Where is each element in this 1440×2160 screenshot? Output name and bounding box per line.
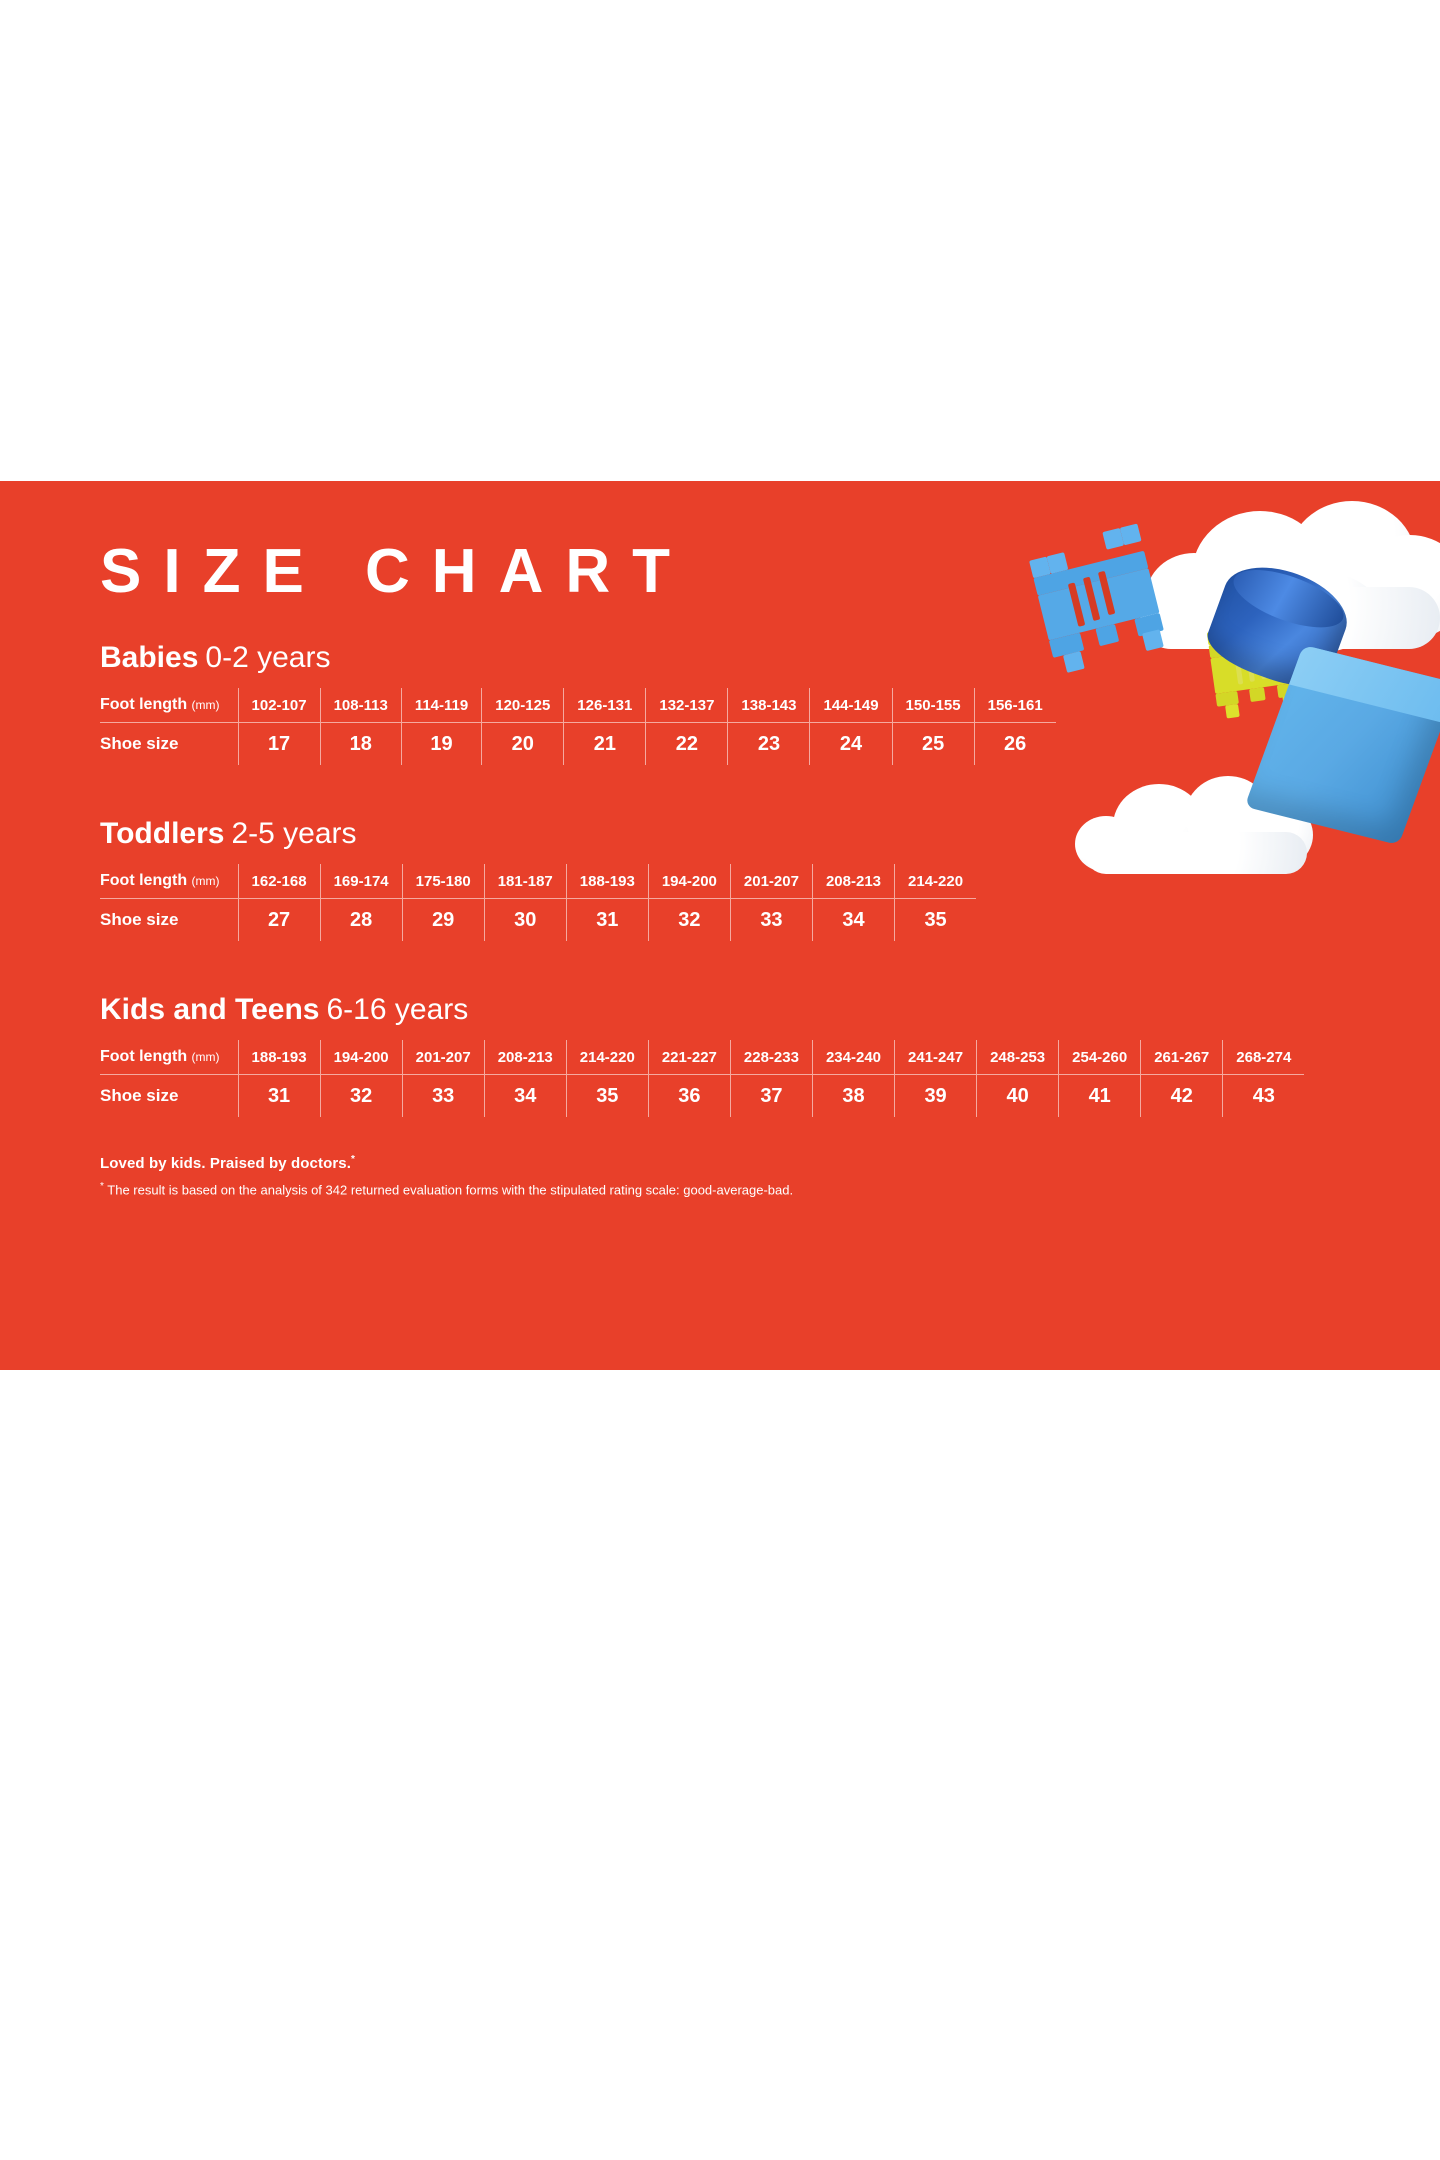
cell-foot-length: 108-113	[320, 688, 401, 723]
cell-shoe-size: 30	[484, 899, 566, 942]
cell-foot-length: 261-267	[1141, 1040, 1223, 1075]
row-label-shoe-size: Shoe size	[100, 723, 238, 766]
page-title: SIZE CHART	[100, 481, 1400, 603]
cell-foot-length: 268-274	[1223, 1040, 1305, 1075]
cell-foot-length: 214-220	[566, 1040, 648, 1075]
cell-shoe-size: 43	[1223, 1075, 1305, 1118]
cell-foot-length: 234-240	[812, 1040, 894, 1075]
row-label-shoe-size: Shoe size	[100, 1075, 238, 1118]
cell-foot-length: 120-125	[482, 688, 564, 723]
cell-foot-length: 248-253	[977, 1040, 1059, 1075]
cell-shoe-size: 31	[238, 1075, 320, 1118]
cell-shoe-size: 22	[646, 723, 728, 766]
cell-shoe-size: 23	[728, 723, 810, 766]
cell-foot-length: 138-143	[728, 688, 810, 723]
cell-shoe-size: 33	[402, 1075, 484, 1118]
cell-shoe-size: 29	[402, 899, 484, 942]
size-table-babies: Foot length (mm) 102-107 108-113 114-119…	[100, 688, 1056, 765]
footer-tagline-text: Loved by kids. Praised by doctors.	[100, 1155, 351, 1172]
size-table-toddlers: Foot length (mm) 162-168 169-174 175-180…	[100, 864, 976, 941]
cell-foot-length: 208-213	[484, 1040, 566, 1075]
section-age-range: 2-5 years	[231, 817, 356, 850]
cell-shoe-size: 18	[320, 723, 401, 766]
row-label-foot-length: Foot length (mm)	[100, 864, 238, 899]
cell-shoe-size: 38	[812, 1075, 894, 1118]
cell-shoe-size: 21	[564, 723, 646, 766]
section-age-range: 6-16 years	[327, 993, 469, 1026]
cell-shoe-size: 42	[1141, 1075, 1223, 1118]
poster-content: SIZE CHART Babies0-2 years Foot length (…	[100, 481, 1400, 1199]
cell-foot-length: 241-247	[895, 1040, 977, 1075]
table-row: Foot length (mm) 188-193 194-200 201-207…	[100, 1040, 1304, 1075]
cell-shoe-size: 27	[238, 899, 320, 942]
cell-foot-length: 132-137	[646, 688, 728, 723]
cell-foot-length: 201-207	[402, 1040, 484, 1075]
cell-foot-length: 102-107	[238, 688, 320, 723]
unit-label: (mm)	[192, 874, 220, 888]
cell-foot-length: 169-174	[320, 864, 402, 899]
cell-shoe-size: 39	[895, 1075, 977, 1118]
cell-foot-length: 162-168	[238, 864, 320, 899]
cell-shoe-size: 33	[730, 899, 812, 942]
cell-foot-length: 126-131	[564, 688, 646, 723]
cell-shoe-size: 17	[238, 723, 320, 766]
cell-foot-length: 208-213	[812, 864, 894, 899]
cell-foot-length: 254-260	[1059, 1040, 1141, 1075]
row-label-text: Foot length	[100, 872, 187, 889]
footer-tagline: Loved by kids. Praised by doctors.*	[100, 1153, 1400, 1174]
row-label-foot-length: Foot length (mm)	[100, 688, 238, 723]
section-toddlers: Toddlers2-5 years Foot length (mm) 162-1…	[100, 817, 1400, 941]
cell-foot-length: 181-187	[484, 864, 566, 899]
cell-foot-length: 175-180	[402, 864, 484, 899]
cell-shoe-size: 40	[977, 1075, 1059, 1118]
cell-shoe-size: 24	[810, 723, 892, 766]
row-label-foot-length: Foot length (mm)	[100, 1040, 238, 1075]
section-heading-kids-and-teens: Kids and Teens6-16 years	[100, 993, 1400, 1026]
footer-note-asterisk: *	[100, 1181, 104, 1192]
cell-foot-length: 201-207	[730, 864, 812, 899]
cell-foot-length: 188-193	[238, 1040, 320, 1075]
section-heading-toddlers: Toddlers2-5 years	[100, 817, 1400, 850]
cell-shoe-size: 20	[482, 723, 564, 766]
cell-shoe-size: 35	[895, 899, 977, 942]
section-heading-babies: Babies0-2 years	[100, 641, 1400, 674]
size-table-kids-and-teens: Foot length (mm) 188-193 194-200 201-207…	[100, 1040, 1304, 1117]
size-chart-poster: SIZE CHART Babies0-2 years Foot length (…	[0, 481, 1440, 1370]
cell-foot-length: 214-220	[895, 864, 977, 899]
cell-shoe-size: 35	[566, 1075, 648, 1118]
table-row: Shoe size 27 28 29 30 31 32 33 34 35	[100, 899, 976, 942]
cell-shoe-size: 36	[648, 1075, 730, 1118]
cell-shoe-size: 32	[648, 899, 730, 942]
unit-label: (mm)	[192, 1050, 220, 1064]
cell-foot-length: 144-149	[810, 688, 892, 723]
table-row: Shoe size 31 32 33 34 35 36 37 38 39 40 …	[100, 1075, 1304, 1118]
section-babies: Babies0-2 years Foot length (mm) 102-107…	[100, 641, 1400, 765]
cell-shoe-size: 41	[1059, 1075, 1141, 1118]
row-label-text: Foot length	[100, 696, 187, 713]
cell-foot-length: 228-233	[730, 1040, 812, 1075]
cell-shoe-size: 32	[320, 1075, 402, 1118]
table-row: Foot length (mm) 102-107 108-113 114-119…	[100, 688, 1056, 723]
section-name: Toddlers	[100, 817, 224, 850]
cell-shoe-size: 19	[401, 723, 481, 766]
row-label-text: Foot length	[100, 1048, 187, 1065]
section-kids-and-teens: Kids and Teens6-16 years Foot length (mm…	[100, 993, 1400, 1117]
section-name: Kids and Teens	[100, 993, 320, 1026]
cell-foot-length: 188-193	[566, 864, 648, 899]
footer-note-text: The result is based on the analysis of 3…	[107, 1182, 793, 1197]
cell-shoe-size: 31	[566, 899, 648, 942]
cell-foot-length: 114-119	[401, 688, 481, 723]
cell-shoe-size: 34	[812, 899, 894, 942]
cell-shoe-size: 34	[484, 1075, 566, 1118]
section-name: Babies	[100, 641, 198, 674]
poster-footer: Loved by kids. Praised by doctors.* * Th…	[100, 1153, 1400, 1199]
unit-label: (mm)	[192, 698, 220, 712]
cell-foot-length: 194-200	[648, 864, 730, 899]
section-age-range: 0-2 years	[205, 641, 330, 674]
cell-foot-length: 150-155	[892, 688, 974, 723]
footer-note: * The result is based on the analysis of…	[100, 1180, 1400, 1199]
cell-shoe-size: 26	[974, 723, 1056, 766]
page-canvas: SIZE CHART Babies0-2 years Foot length (…	[0, 0, 1440, 2160]
cell-foot-length: 221-227	[648, 1040, 730, 1075]
cell-shoe-size: 25	[892, 723, 974, 766]
footer-tagline-asterisk: *	[351, 1154, 355, 1165]
row-label-shoe-size: Shoe size	[100, 899, 238, 942]
cell-shoe-size: 37	[730, 1075, 812, 1118]
cell-shoe-size: 28	[320, 899, 402, 942]
cell-foot-length: 194-200	[320, 1040, 402, 1075]
table-row: Shoe size 17 18 19 20 21 22 23 24 25 26	[100, 723, 1056, 766]
cell-foot-length: 156-161	[974, 688, 1056, 723]
table-row: Foot length (mm) 162-168 169-174 175-180…	[100, 864, 976, 899]
